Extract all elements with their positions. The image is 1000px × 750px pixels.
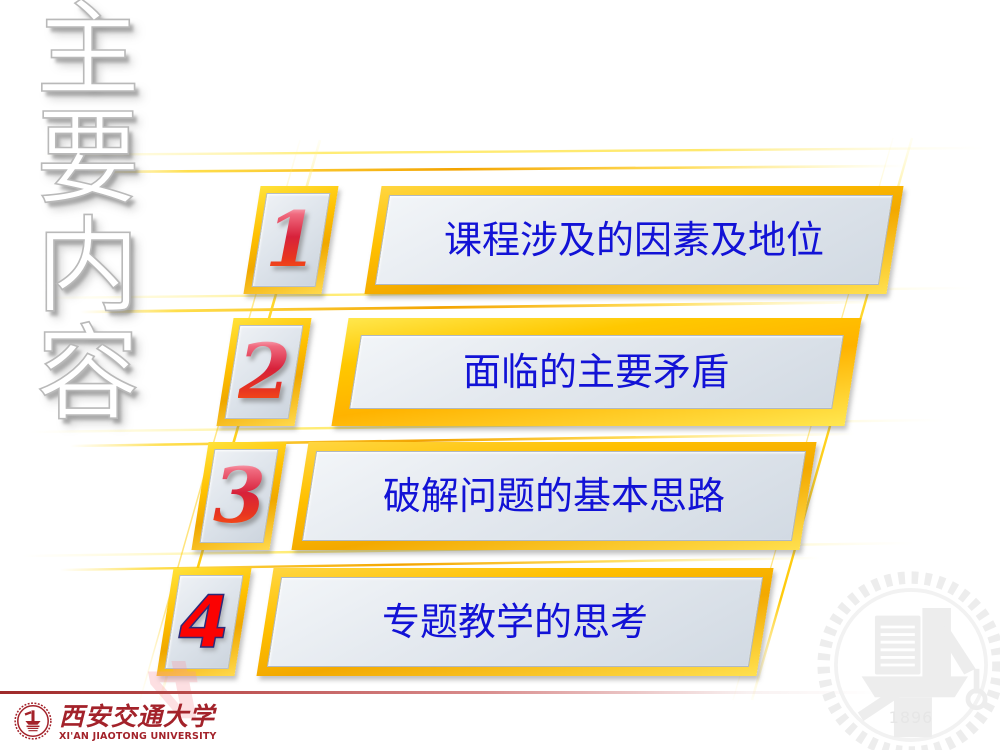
agenda-number-plate-1: 1 <box>252 193 331 287</box>
agenda-number-plate-2: 2 <box>225 325 304 419</box>
agenda-number-3: 3 <box>213 458 266 534</box>
slide-canvas: 主 要 内 容 1 课程涉及的因素及地位 2 面临的主要矛盾 <box>0 0 1000 750</box>
xjtu-gear-icon <box>14 702 52 744</box>
footer-divider <box>0 691 880 694</box>
agenda-number-tile-3: 3 <box>191 442 286 550</box>
agenda-label-4: 专题教学的思考 <box>382 601 648 643</box>
agenda-plate-3: 破解问题的基本思路 <box>302 451 806 541</box>
agenda-number-tile-2: 2 <box>216 318 311 426</box>
logo-name-en: XI'AN JIAOTONG UNIVERSITY <box>59 732 217 742</box>
title-char-3: 内 <box>36 212 140 320</box>
agenda-number-tile-1: 1 <box>243 186 338 294</box>
title-char-1: 主 <box>36 0 140 104</box>
university-logo: 西安交通大学 XI'AN JIAOTONG UNIVERSITY <box>14 702 217 744</box>
agenda-number-1: 1 <box>265 202 318 278</box>
page-title: 主 要 内 容 <box>8 0 168 446</box>
logo-name-cn: 西安交通大学 <box>59 704 217 729</box>
agenda-number-plate-3: 3 <box>200 449 279 543</box>
agenda-plate-1: 课程涉及的因素及地位 <box>375 195 893 285</box>
title-char-2: 要 <box>36 104 140 212</box>
agenda-label-1: 课程涉及的因素及地位 <box>444 219 824 261</box>
agenda-bar-4[interactable]: 专题教学的思考 <box>256 568 773 676</box>
xjtu-watermark: 1896 <box>816 570 1000 750</box>
agenda-bar-3[interactable]: 破解问题的基本思路 <box>291 442 816 550</box>
agenda-bar-1[interactable]: 课程涉及的因素及地位 <box>364 186 903 294</box>
watermark-year: 1896 <box>889 708 934 727</box>
agenda-plate-4: 专题教学的思考 <box>267 577 763 667</box>
agenda-label-3: 破解问题的基本思路 <box>383 475 725 517</box>
agenda-plate-2: 面临的主要矛盾 <box>349 335 844 409</box>
agenda-bar-2[interactable]: 面临的主要矛盾 <box>331 318 861 426</box>
agenda-label-2: 面临的主要矛盾 <box>463 351 729 393</box>
agenda-number-2: 2 <box>238 334 291 410</box>
logo-text-block: 西安交通大学 XI'AN JIAOTONG UNIVERSITY <box>59 704 217 742</box>
title-char-4: 容 <box>36 320 140 428</box>
